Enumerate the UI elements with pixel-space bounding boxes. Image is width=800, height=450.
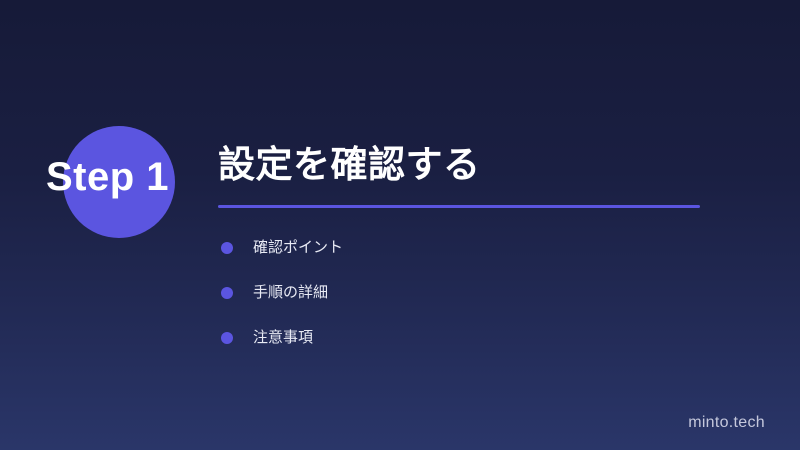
slide-canvas: Step 1 設定を確認する 確認ポイント 手順の詳細 注意事項 minto.t…: [0, 0, 800, 450]
title-divider: [218, 205, 700, 208]
list-item-label: 注意事項: [253, 328, 313, 348]
bullet-dot-icon: [221, 332, 233, 344]
list-item: 注意事項: [221, 328, 343, 348]
step-number-label: Step 1: [46, 155, 169, 200]
footer-brand-label: minto.tech: [688, 414, 765, 432]
list-item: 確認ポイント: [221, 238, 343, 258]
bullet-dot-icon: [221, 287, 233, 299]
list-item-label: 手順の詳細: [253, 283, 328, 303]
list-item-label: 確認ポイント: [253, 238, 343, 258]
slide-title: 設定を確認する: [218, 140, 778, 190]
bullet-dot-icon: [221, 242, 233, 254]
slide-content: 設定を確認する 確認ポイント 手順の詳細 注意事項: [218, 140, 778, 208]
list-item: 手順の詳細: [221, 283, 343, 303]
bullet-list: 確認ポイント 手順の詳細 注意事項: [221, 238, 343, 348]
